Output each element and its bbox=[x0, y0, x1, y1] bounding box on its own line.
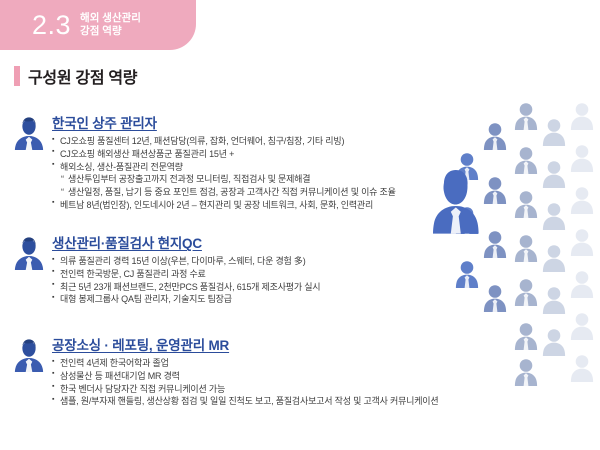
list-item: 베트남 8년(법인장), 인도네시아 2년 – 현지관리 및 공장 네트워크, … bbox=[52, 199, 396, 212]
competency-block-3-heading: 공장소싱 · 레포팅, 운영관리 MR bbox=[52, 334, 438, 354]
list-item: 전인력 한국방문, CJ 품질관리 과정 수료 bbox=[52, 268, 320, 281]
list-item: 전인력 4년제 한국어학과 졸업 bbox=[52, 357, 438, 370]
competency-block-2-heading: 생산관리·품질검사 현지QC bbox=[52, 232, 320, 252]
list-item: 샘플, 원/부자재 핸들링, 생산상황 점검 및 일일 진척도 보고, 품질검사… bbox=[52, 395, 438, 408]
section-title-group: 구성원 강점 역량 bbox=[14, 64, 137, 88]
header-section-subtitle: 해외 생산관리 강점 역량 bbox=[80, 12, 141, 39]
list-item: 생산투입부터 공장출고까지 전과정 모니터링, 직접검사 및 문제해결 bbox=[52, 173, 396, 186]
business-person-icon bbox=[14, 338, 44, 372]
list-item: 최근 5년 23개 패션브랜드, 2천만PCS 품질검사, 615개 제조사평가… bbox=[52, 281, 320, 294]
competency-block-3-bullets: 전인력 4년제 한국어학과 졸업 삼성물산 등 패션대기업 MR 경력 한국 벤… bbox=[52, 357, 438, 408]
competency-block-3-body: 공장소싱 · 레포팅, 운영관리 MR 전인력 4년제 한국어학과 졸업 삼성물… bbox=[52, 334, 438, 408]
list-item: 삼성물산 등 패션대기업 MR 경력 bbox=[52, 370, 438, 383]
competency-block-1-bullets: CJ오쇼핑 품질센터 12년, 패션담당(의류, 잡화, 언더웨어, 침구/침장… bbox=[52, 135, 396, 212]
competency-block-2-body: 생산관리·품질검사 현지QC 의류 품질관리 경력 15년 이상(우븐, 다이마… bbox=[52, 232, 320, 306]
page-title: 구성원 강점 역량 bbox=[28, 64, 137, 88]
competency-block-1: 한국인 상주 관리자 CJ오쇼핑 품질센터 12년, 패션담당(의류, 잡화, … bbox=[14, 112, 396, 212]
lead-person-icon bbox=[433, 170, 479, 234]
list-item: 해외소싱, 생산-품질관리 전문역량 bbox=[52, 161, 396, 174]
header-section-number: 2.3 bbox=[32, 12, 71, 39]
business-person-icon bbox=[14, 236, 44, 270]
list-item: CJ오쇼핑 해외생산 패션상품군 품질관리 15년 + bbox=[52, 148, 396, 161]
list-item: 의류 품질관리 경력 15년 이상(우븐, 다이마루, 스웨터, 다운 경험 多… bbox=[52, 255, 320, 268]
list-item: CJ오쇼핑 품질센터 12년, 패션담당(의류, 잡화, 언더웨어, 침구/침장… bbox=[52, 135, 396, 148]
competency-block-1-heading: 한국인 상주 관리자 bbox=[52, 112, 396, 132]
competency-block-2-bullets: 의류 품질관리 경력 15년 이상(우븐, 다이마루, 스웨터, 다운 경험 多… bbox=[52, 255, 320, 306]
competency-block-2: 생산관리·품질검사 현지QC 의류 품질관리 경력 15년 이상(우븐, 다이마… bbox=[14, 232, 320, 306]
business-person-icon bbox=[14, 116, 44, 150]
competency-block-1-body: 한국인 상주 관리자 CJ오쇼핑 품질센터 12년, 패션담당(의류, 잡화, … bbox=[52, 112, 396, 212]
competency-block-3: 공장소싱 · 레포팅, 운영관리 MR 전인력 4년제 한국어학과 졸업 삼성물… bbox=[14, 334, 438, 408]
list-item: 한국 벤더사 담당자간 직접 커뮤니케이션 가능 bbox=[52, 383, 438, 396]
list-item: 대형 봉제그룹사 QA팀 관리자, 기술지도 팀장급 bbox=[52, 293, 320, 306]
header-banner: 2.3 해외 생산관리 강점 역량 bbox=[0, 0, 196, 50]
title-accent-bar bbox=[14, 66, 20, 86]
people-crowd-illustration bbox=[420, 100, 600, 390]
crowd-svg bbox=[420, 100, 600, 390]
list-item: 생산일정, 품질, 납기 등 중요 포인트 점검, 공장과 고객사간 직접 커뮤… bbox=[52, 186, 396, 199]
